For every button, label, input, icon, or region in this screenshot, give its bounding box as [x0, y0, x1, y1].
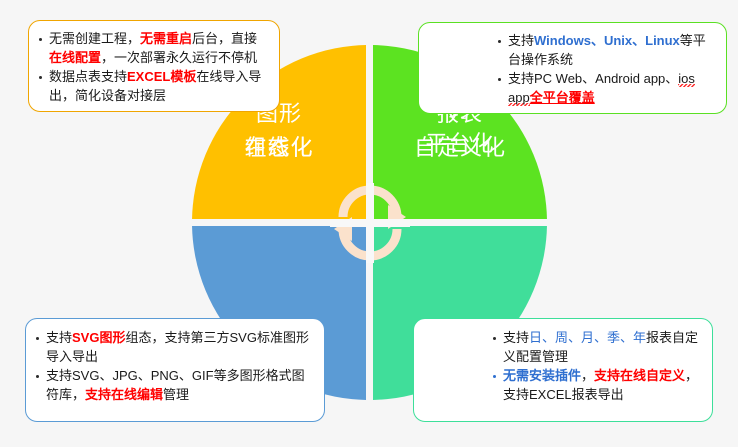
cycle-arrows-svg — [330, 183, 410, 263]
diagram-canvas: 在线化 跨 平台化 图形 组态化 报表 自定义化 — [0, 0, 738, 447]
list-item: 无需安装插件，支持在线自定义，支持EXCEL报表导出 — [492, 367, 702, 404]
callout-bottom-right-list: 支持日、周、月、季、年报表自定义配置管理 无需安装插件，支持在线自定义，支持EX… — [492, 329, 702, 404]
list-item: 支持SVG、JPG、PNG、GIF等多图形格式图符库，支持在线编辑管理 — [35, 367, 314, 404]
callout-bottom-left[interactable]: 支持SVG图形组态，支持第三方SVG标准图形导入导出 支持SVG、JPG、PNG… — [25, 318, 325, 422]
emphasis-red: EXCEL模板 — [127, 69, 196, 84]
list-item: 支持日、周、月、季、年报表自定义配置管理 — [492, 329, 702, 366]
emphasis-red: 全平台覆盖 — [530, 90, 595, 105]
emphasis-red: SVG图形 — [72, 330, 125, 345]
list-item: 支持PC Web、Android app、ios app全平台覆盖 — [497, 70, 716, 107]
callout-top-left[interactable]: 无需创建工程，无需重启后台，直接在线配置，一次部署永久运行不停机 数据点表支持E… — [28, 20, 280, 112]
quadrant-label-graphic-config-line2: 组态化 — [192, 131, 366, 165]
callout-top-left-list: 无需创建工程，无需重启后台，直接在线配置，一次部署永久运行不停机 数据点表支持E… — [38, 30, 269, 105]
list-item: 支持SVG图形组态，支持第三方SVG标准图形导入导出 — [35, 329, 314, 366]
emphasis-blue: Windows — [534, 33, 591, 48]
callout-top-right[interactable]: 支持Windows、Unix、Linux等平台操作系统 支持PC Web、And… — [418, 22, 727, 114]
callout-bottom-left-list: 支持SVG图形组态，支持第三方SVG标准图形导入导出 支持SVG、JPG、PNG… — [35, 329, 314, 404]
emphasis-blue: 日、周、月、季、年 — [529, 330, 646, 345]
emphasis-red: 支持在线编辑 — [85, 387, 163, 402]
cycle-arrows-icon — [330, 183, 410, 263]
list-item: 无需创建工程，无需重启后台，直接在线配置，一次部署永久运行不停机 — [38, 30, 269, 67]
emphasis-red: 无需重启 — [140, 31, 192, 46]
emphasis-red: 支持在线自定义 — [594, 368, 685, 383]
callout-top-right-list: 支持Windows、Unix、Linux等平台操作系统 支持PC Web、And… — [497, 32, 716, 107]
list-item: 数据点表支持EXCEL模板在线导入导出，简化设备对接层 — [38, 68, 269, 105]
emphasis-blue: 、Unix、Linux — [591, 33, 680, 48]
emphasis-blue: 无需安装插件 — [503, 368, 581, 383]
list-item: 支持Windows、Unix、Linux等平台操作系统 — [497, 32, 716, 69]
callout-bottom-right[interactable]: 支持日、周、月、季、年报表自定义配置管理 无需安装插件，支持在线自定义，支持EX… — [413, 318, 713, 422]
cycle-divider-horizontal — [330, 219, 410, 227]
emphasis-red: 在线配置 — [49, 50, 101, 65]
quadrant-label-report-custom-line2: 自定义化 — [373, 131, 547, 165]
